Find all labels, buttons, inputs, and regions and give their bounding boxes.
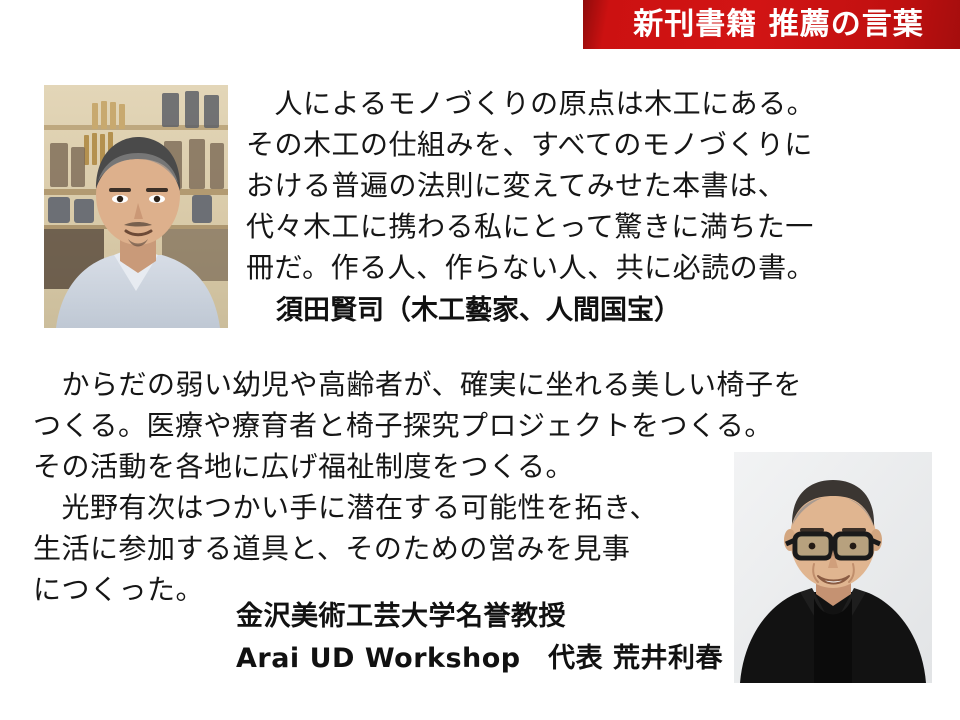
endorsement-quote-arai: からだの弱い幼児や高齢者が、確実に坐れる美しい椅子を つくる。医療や療育者と椅子… (33, 365, 802, 611)
portrait-photo-suda (44, 85, 228, 328)
endorsement-attribution-suda: 須田賢司（木工藝家、人間国宝） (276, 294, 681, 328)
banner-title: 新刊書籍 推薦の言葉 (619, 10, 923, 40)
portrait-suda-illustration (44, 85, 228, 328)
portrait-photo-arai (734, 452, 932, 683)
recommendation-banner: 新刊書籍 推薦の言葉 (583, 0, 960, 49)
endorsement-attribution-arai: 金沢美術工芸大学名誉教授 Arai UD Workshop 代表 荒井利春 (236, 596, 723, 680)
portrait-arai-illustration (734, 452, 932, 683)
endorsement-quote-suda: 人によるモノづくりの原点は木工にある。 その木工の仕組みを、すべてのモノづくりに… (246, 84, 815, 289)
